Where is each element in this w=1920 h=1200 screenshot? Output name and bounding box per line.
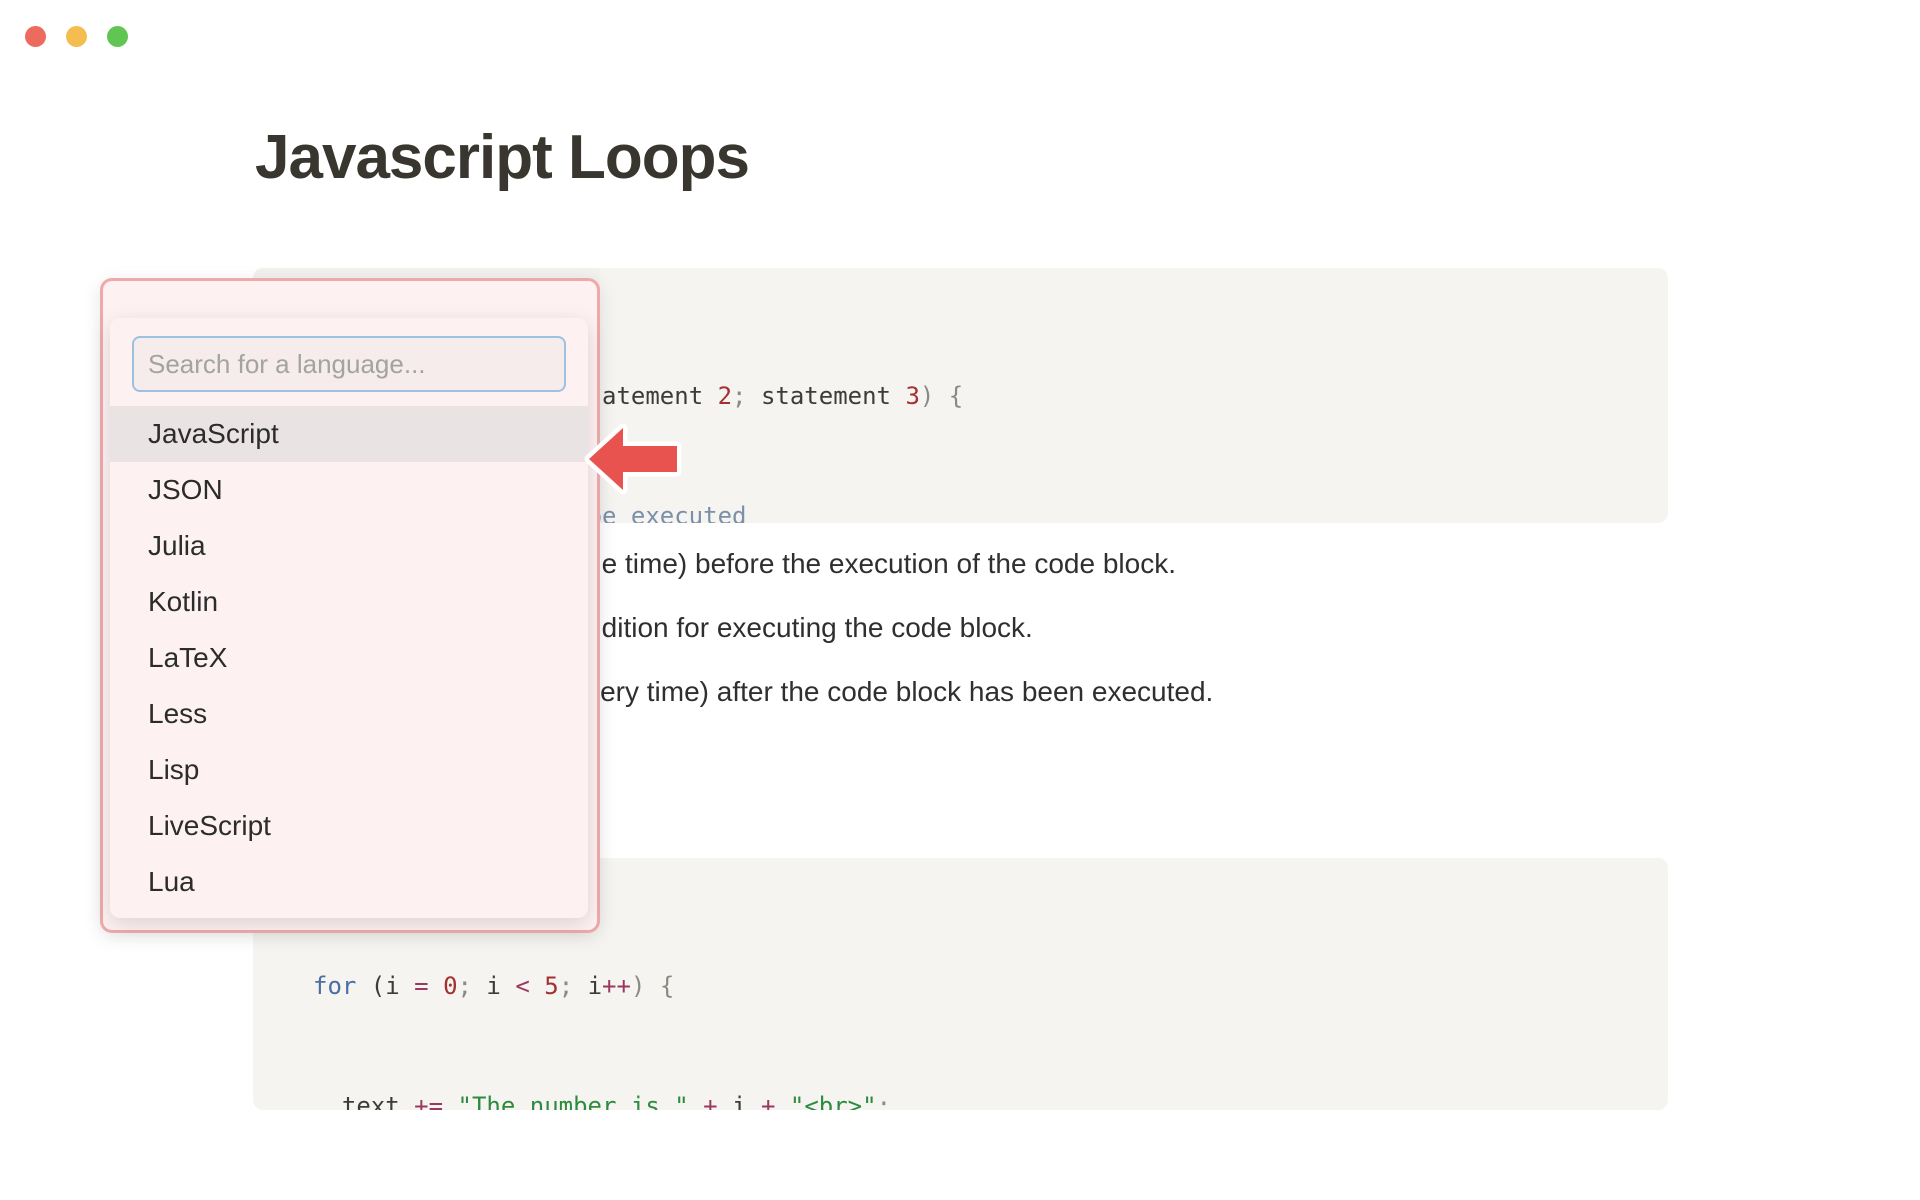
language-list-item[interactable]: LiveScript xyxy=(110,798,588,854)
code-token: + xyxy=(689,1092,732,1110)
code-token: for xyxy=(313,972,371,1000)
code-token: "The number is " xyxy=(458,1092,689,1110)
code-token: ) { xyxy=(631,972,674,1000)
language-list-item-label: JSON xyxy=(148,474,223,505)
close-window-button[interactable] xyxy=(25,26,46,47)
code-token: < xyxy=(515,972,544,1000)
page-title: Javascript Loops xyxy=(255,122,749,193)
code-token: 0 xyxy=(443,972,457,1000)
language-list-item[interactable]: JSON xyxy=(110,462,588,518)
code-token: += xyxy=(414,1092,457,1110)
language-list-item[interactable]: Less xyxy=(110,686,588,742)
code-token: ) { xyxy=(920,382,963,410)
code-token: text xyxy=(313,1092,414,1110)
language-list-item-label: Julia xyxy=(148,530,206,561)
language-list-item[interactable]: LaTeX xyxy=(110,630,588,686)
code-token: ; xyxy=(732,382,761,410)
code-token: = xyxy=(414,972,443,1000)
language-list-item-label: Lisp xyxy=(148,754,199,785)
traffic-light-group xyxy=(25,26,128,47)
code-token: (i xyxy=(371,972,414,1000)
language-list-item-label: LaTeX xyxy=(148,642,227,673)
language-list-item[interactable]: Julia xyxy=(110,518,588,574)
code-token: 5 xyxy=(544,972,558,1000)
code-line: text += "The number is " + i + "<br>"; xyxy=(313,1086,1608,1110)
language-dropdown-panel: JavaScriptJSONJuliaKotlinLaTeXLessLispLi… xyxy=(110,318,588,918)
language-list-item-label: LiveScript xyxy=(148,810,271,841)
language-list-item[interactable]: Lua xyxy=(110,854,588,910)
code-line: for (i = 0; i < 5; i++) { xyxy=(313,966,1608,1006)
minimize-window-button[interactable] xyxy=(66,26,87,47)
language-list-item-label: Lua xyxy=(148,866,195,897)
code-token: ; xyxy=(559,972,588,1000)
annotation-arrow-left-icon xyxy=(583,424,683,494)
language-list: JavaScriptJSONJuliaKotlinLaTeXLessLispLi… xyxy=(110,406,588,910)
code-token: i xyxy=(732,1092,746,1110)
code-token: + xyxy=(747,1092,790,1110)
language-list-item-label: Kotlin xyxy=(148,586,218,617)
maximize-window-button[interactable] xyxy=(107,26,128,47)
code-token: statement xyxy=(761,382,906,410)
language-list-item[interactable]: JavaScript xyxy=(110,406,588,462)
window-titlebar xyxy=(0,0,1920,72)
language-list-item-label: Less xyxy=(148,698,207,729)
code-token: i xyxy=(588,972,602,1000)
code-token: ; xyxy=(458,972,487,1000)
code-token: ++ xyxy=(602,972,631,1000)
code-token: 2 xyxy=(718,382,732,410)
language-search-wrapper xyxy=(110,318,588,406)
language-list-item[interactable]: Lisp xyxy=(110,742,588,798)
code-token: ; xyxy=(877,1092,891,1110)
search-input[interactable] xyxy=(132,336,566,392)
language-list-item-label: JavaScript xyxy=(148,418,279,449)
code-token: i xyxy=(486,972,515,1000)
code-token: 3 xyxy=(905,382,919,410)
code-token: "<br>" xyxy=(790,1092,877,1110)
language-list-item[interactable]: Kotlin xyxy=(110,574,588,630)
